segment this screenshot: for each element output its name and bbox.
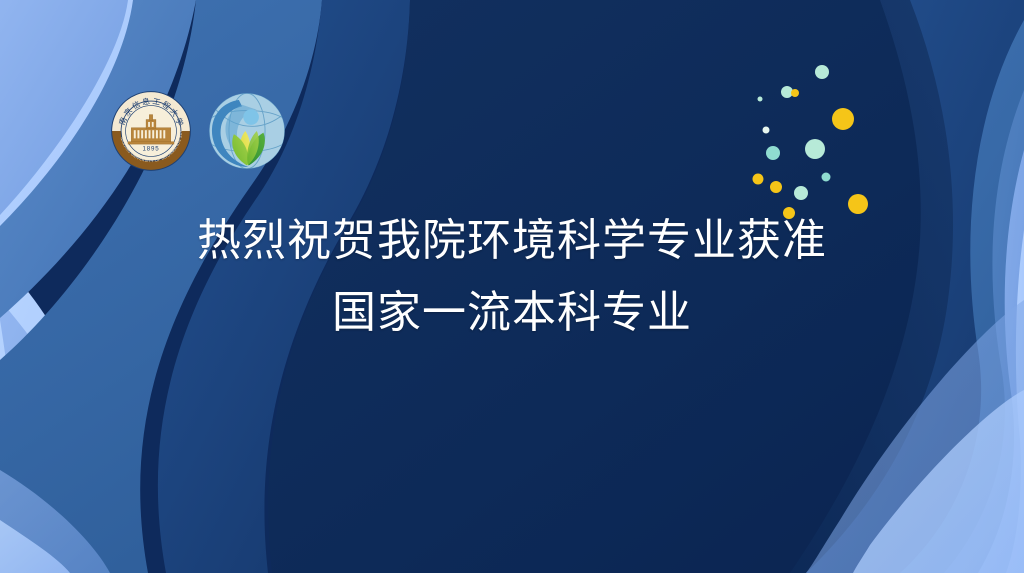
- decorative-dot: [815, 65, 829, 79]
- seal-year: 1895: [143, 146, 160, 153]
- headline-block: 热烈祝贺我院环境科学专业获准 国家一流本科专业: [0, 205, 1024, 349]
- logo-row: 南京信息工程大学 NANJING UNIVERSITY OF INFORMATI…: [110, 90, 288, 172]
- decorative-dot: [763, 127, 770, 134]
- decorative-dot: [805, 139, 825, 159]
- university-seal-logo: 南京信息工程大学 NANJING UNIVERSITY OF INFORMATI…: [110, 90, 192, 172]
- decorative-dot: [766, 146, 780, 160]
- decorative-dot: [794, 186, 808, 200]
- celebration-banner: 南京信息工程大学 NANJING UNIVERSITY OF INFORMATI…: [0, 0, 1024, 573]
- decorative-dot: [758, 97, 763, 102]
- decorative-dot: [832, 108, 854, 130]
- decorative-dot: [770, 181, 782, 193]
- decorative-dot: [791, 89, 799, 97]
- headline-line-1: 热烈祝贺我院环境科学专业获准: [0, 205, 1024, 277]
- headline-line-2: 国家一流本科专业: [0, 277, 1024, 349]
- environment-eco-logo: [206, 90, 288, 172]
- decorative-dot: [822, 173, 831, 182]
- decorative-dot: [753, 174, 764, 185]
